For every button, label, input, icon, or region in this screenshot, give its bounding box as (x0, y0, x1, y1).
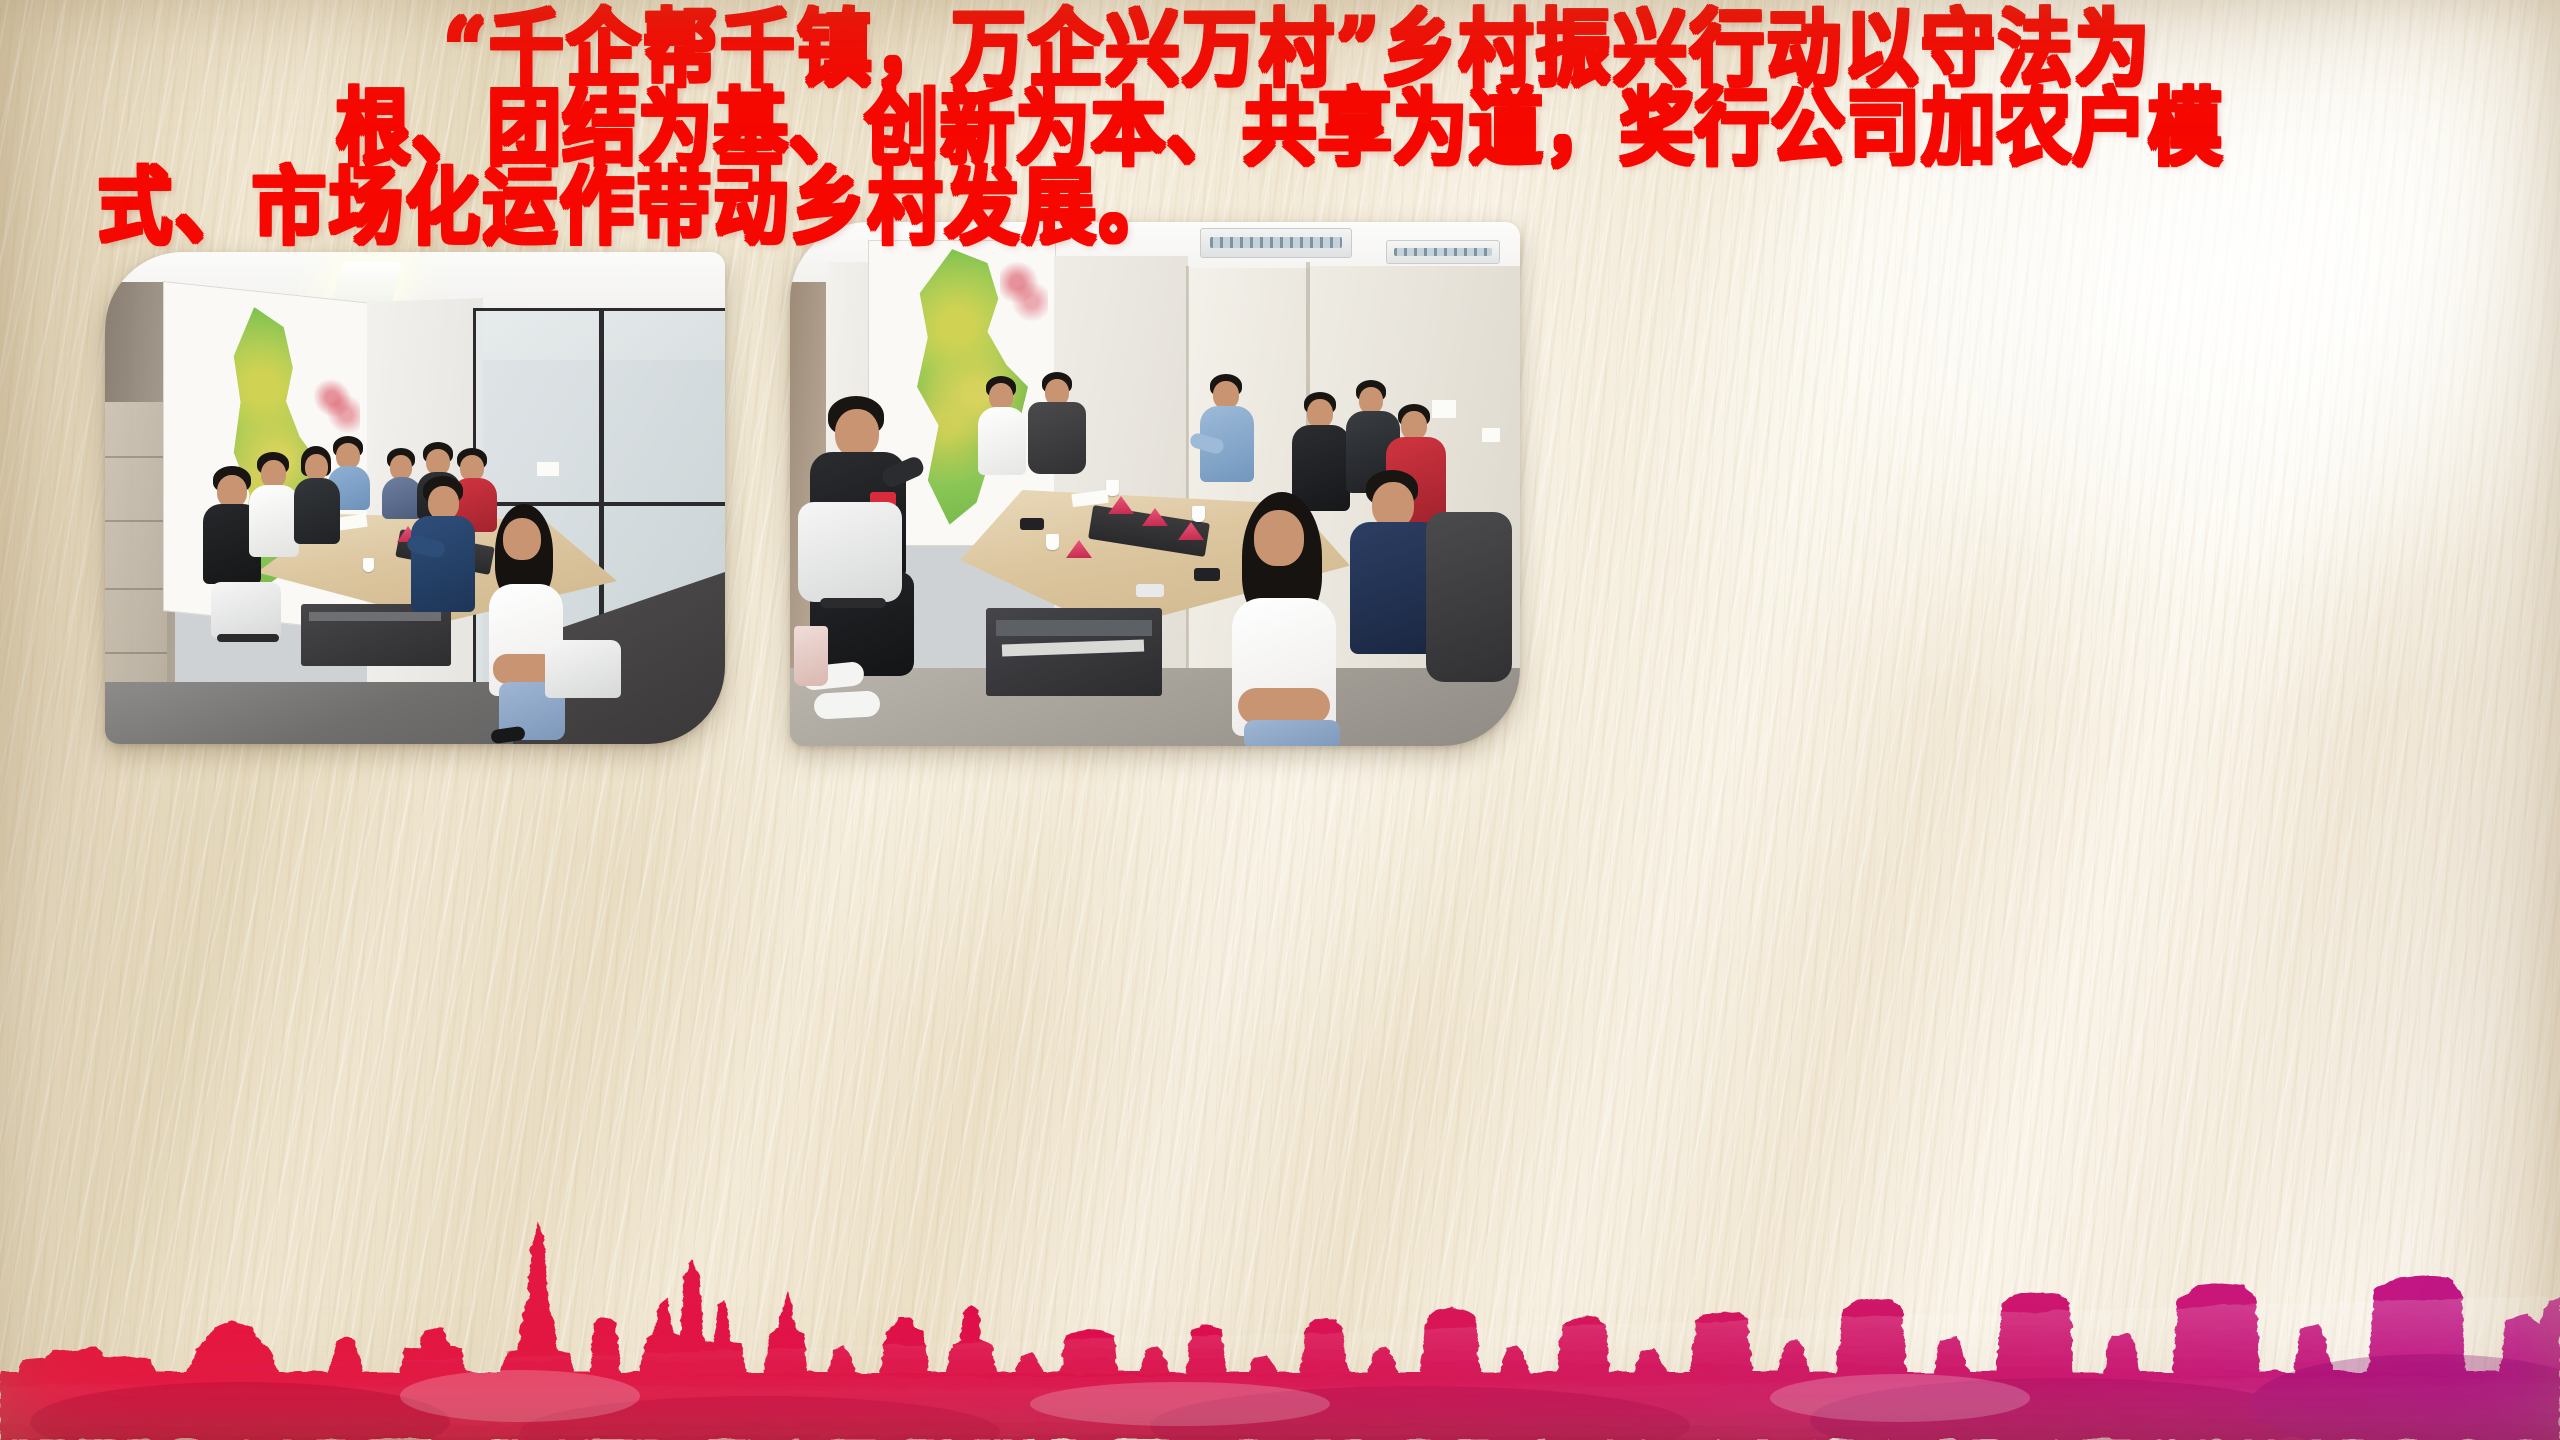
teacup (1106, 480, 1119, 496)
city-skyline-banner (0, 1200, 2560, 1440)
jeans (1244, 720, 1340, 746)
wall-sign (537, 462, 559, 476)
poster-canvas: “千企帮千镇，万企兴万村”乡村振兴行动以守法为 根、团结为基、创新为本、共享为道… (0, 0, 2560, 1440)
smartphone (1194, 568, 1220, 581)
teacup (363, 558, 374, 572)
notebook (1136, 584, 1164, 597)
office-chair (545, 640, 621, 698)
office-chair (798, 502, 902, 602)
chair-base (820, 598, 886, 608)
headline-block: “千企帮千镇，万企兴万村”乡村振兴行动以守法为 根、团结为基、创新为本、共享为道… (0, 6, 2560, 243)
smartphone (1020, 518, 1044, 530)
map-legend-dots (1000, 258, 1049, 325)
office-chair (1426, 512, 1512, 682)
skyline-svg (0, 1200, 2560, 1440)
ceiling-lamp (332, 262, 402, 304)
glass-rail (473, 502, 725, 506)
wall-switch (1432, 400, 1456, 418)
chair-base (217, 634, 279, 642)
meeting-photo-right (790, 222, 1520, 746)
waste-bin (794, 626, 828, 686)
meeting-photo-left (105, 252, 725, 744)
photo-left-scene (105, 252, 725, 744)
map-legend-dots (314, 369, 360, 440)
teacup (1192, 506, 1205, 522)
wall-socket (1482, 428, 1500, 442)
credenza-shelf (309, 612, 441, 621)
photo-right-scene (790, 222, 1520, 746)
headline-line-3: 式、市场化运作带动乡村发展。 (52, 164, 2508, 252)
office-chair (211, 582, 281, 638)
shoe (813, 690, 880, 719)
panel-seam (1186, 266, 1189, 726)
teacup (1046, 534, 1059, 550)
office-chair (1028, 402, 1086, 474)
credenza-shelf (996, 620, 1152, 636)
